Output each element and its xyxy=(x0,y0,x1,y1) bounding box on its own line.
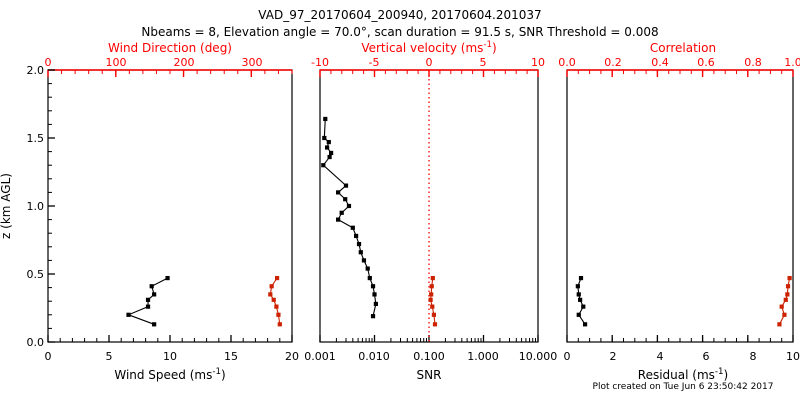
wind-panel-data xyxy=(126,276,281,326)
correlation-panel-data-point xyxy=(788,276,792,280)
correlation-panel-data-point xyxy=(782,313,786,317)
snr-panel-data-point xyxy=(431,276,435,280)
snr-panel-data-point xyxy=(354,234,358,238)
snr-panel-data-point xyxy=(325,145,329,149)
snr-panel-data-point xyxy=(371,314,375,318)
correlation-panel-data-point xyxy=(780,305,784,309)
correlation-panel-data-point xyxy=(581,305,585,309)
snr-panel-data xyxy=(321,117,437,327)
correlation-panel-data-point xyxy=(583,322,587,326)
plot-canvas xyxy=(0,0,800,400)
snr-panel-data-point xyxy=(362,258,366,262)
correlation-panel-data-point xyxy=(777,322,781,326)
correlation-panel-data-point xyxy=(784,298,788,302)
wind-panel-data-point xyxy=(146,305,150,309)
snr-panel-data-point xyxy=(328,155,332,159)
snr-panel-data-point xyxy=(321,163,325,167)
wind-panel-data-point xyxy=(150,284,154,288)
snr-panel-data-point xyxy=(371,284,375,288)
snr-panel-data-point xyxy=(429,298,433,302)
wind-panel-data-point xyxy=(270,284,274,288)
snr-panel-data-point xyxy=(372,292,376,296)
wind-panel-frame xyxy=(48,70,292,342)
wind-panel-data-point xyxy=(275,276,279,280)
snr-panel-data-point xyxy=(357,242,361,246)
snr-panel-data-point xyxy=(327,140,331,144)
snr-panel-data-point xyxy=(359,250,363,254)
snr-panel-data-point xyxy=(351,226,355,230)
snr-panel-data-point xyxy=(430,284,434,288)
correlation-panel-data xyxy=(576,276,792,326)
wind-panel-data-point xyxy=(268,292,272,296)
snr-panel-data-point xyxy=(344,184,348,188)
wind-panel-data-point xyxy=(276,313,280,317)
wind-panel-axes xyxy=(48,70,292,342)
wind-panel-data-point xyxy=(165,276,169,280)
snr-panel-data-point xyxy=(322,136,326,140)
snr-panel-data-point xyxy=(329,151,333,155)
snr-panel-data-point xyxy=(340,211,344,215)
correlation-panel-data-point xyxy=(579,276,583,280)
snr-panel-data-point xyxy=(343,197,347,201)
correlation-panel-data-point xyxy=(786,284,790,288)
wind-panel-data-point xyxy=(152,292,156,296)
snr-panel-data-point xyxy=(374,302,378,306)
snr-panel-data-point xyxy=(433,322,437,326)
snr-panel-series-line xyxy=(323,119,376,316)
wind-panel-data-point xyxy=(272,298,276,302)
snr-panel-data-point xyxy=(323,117,327,121)
correlation-panel-axes xyxy=(567,70,793,342)
snr-panel-data-point xyxy=(347,204,351,208)
wind-panel-data-point xyxy=(274,305,278,309)
snr-panel-data-point xyxy=(432,313,436,317)
snr-panel-data-point xyxy=(429,292,433,296)
wind-panel-data-point xyxy=(278,322,282,326)
vad-plot-figure: VAD_97_20170604_200940, 20170604.201037 … xyxy=(0,0,800,400)
wind-panel-data-point xyxy=(126,313,130,317)
snr-panel-data-point xyxy=(366,266,370,270)
snr-panel-data-point xyxy=(368,276,372,280)
wind-panel-data-point xyxy=(146,298,150,302)
correlation-panel-data-point xyxy=(576,284,580,288)
correlation-panel-frame xyxy=(567,70,793,342)
snr-panel-data-point xyxy=(336,218,340,222)
correlation-panel-data-point xyxy=(578,298,582,302)
correlation-panel-data-point xyxy=(785,292,789,296)
snr-panel-data-point xyxy=(430,305,434,309)
correlation-panel-data-point xyxy=(577,313,581,317)
snr-panel-data-point xyxy=(336,190,340,194)
correlation-panel-data-point xyxy=(577,292,581,296)
wind-panel-data-point xyxy=(152,322,156,326)
